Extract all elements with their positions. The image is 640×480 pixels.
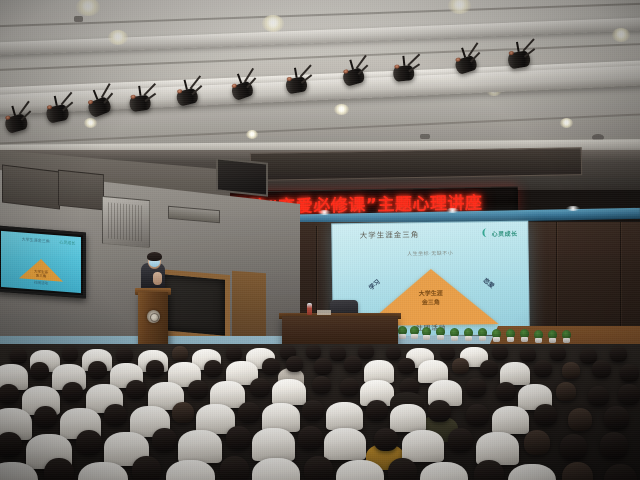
- audience-head: [520, 347, 536, 362]
- slide-center-line1: 大学生涯: [419, 290, 443, 297]
- speaker-hair: [147, 252, 162, 261]
- ceiling-vent: [420, 134, 430, 139]
- band-light: [446, 208, 459, 213]
- monitor-triangle-base-label: 社团活动: [34, 280, 48, 286]
- audience-seat: [272, 379, 306, 405]
- audience-seat: [252, 428, 295, 461]
- audience-head: [262, 358, 280, 375]
- audience-seat: [492, 406, 529, 434]
- stage-spotlight: [392, 61, 414, 78]
- audience-head: [62, 346, 78, 362]
- audience-head: [306, 344, 321, 359]
- potted-plant: [562, 334, 571, 343]
- potted-plant: [398, 330, 407, 339]
- audience-head: [496, 382, 516, 401]
- ceiling-downlight: [262, 15, 284, 32]
- ceiling-speaker: [102, 196, 150, 248]
- audience-head: [34, 406, 57, 428]
- audience-head: [344, 356, 362, 373]
- audience-head: [610, 346, 627, 362]
- audience-seat: [390, 404, 426, 432]
- slide-title: 大学生涯金三角: [360, 229, 420, 241]
- wall-panel-seam: [620, 222, 621, 334]
- audience-head: [560, 434, 587, 460]
- audience-head: [30, 362, 49, 380]
- audience-head: [440, 346, 455, 360]
- potted-plant: [492, 333, 501, 342]
- potted-plant: [478, 332, 487, 341]
- band-light: [318, 210, 331, 215]
- potted-plant: [422, 331, 431, 340]
- band-light: [566, 206, 580, 211]
- monitor-screen: 大学生涯金三角 心灵成长 大学生涯 金三角 社团活动: [1, 231, 81, 293]
- stage-spotlight: [44, 100, 69, 120]
- paper-on-table: [317, 310, 331, 315]
- audience-head: [466, 378, 486, 397]
- audience-seat: [178, 430, 222, 463]
- audience-head: [152, 428, 177, 452]
- slide-triangle-center-label: 大学生涯 金三角: [419, 290, 443, 308]
- audience-head: [524, 430, 550, 455]
- audience-head: [604, 406, 629, 430]
- ceiling-downlight: [84, 118, 97, 128]
- audience-head: [188, 380, 208, 399]
- stage-spotlight: [506, 46, 530, 66]
- audience-head: [132, 456, 161, 480]
- audience-head: [448, 428, 473, 452]
- slide-logo: 心灵成长: [483, 227, 518, 237]
- audience-head: [0, 432, 22, 457]
- audience-head: [286, 356, 303, 372]
- potted-plant: [506, 333, 515, 342]
- audience-head: [568, 408, 592, 431]
- ceiling-downlight: [334, 104, 349, 115]
- slide-center-line2: 金三角: [422, 299, 440, 306]
- audience-head: [592, 360, 611, 378]
- audience-head: [0, 384, 19, 404]
- audience-head: [618, 384, 640, 405]
- water-bottle: [307, 303, 312, 315]
- potted-plant: [464, 332, 473, 341]
- audience-head: [220, 456, 249, 480]
- audience-head: [550, 346, 566, 361]
- audience-head: [388, 458, 417, 480]
- potted-plant: [450, 332, 459, 341]
- audience-head: [312, 376, 331, 394]
- audience-head: [492, 345, 508, 360]
- audience-head: [172, 402, 194, 423]
- ceiling-downlight: [246, 130, 258, 139]
- audience-head: [386, 346, 401, 360]
- audience-seat: [336, 460, 384, 480]
- potted-plant: [548, 334, 557, 343]
- audience-head: [398, 358, 415, 374]
- audience-head: [44, 458, 74, 480]
- wall-mounted-monitor: 大学生涯金三角 心灵成长 大学生涯 金三角 社团活动: [0, 225, 86, 298]
- wall-cabinet: [58, 170, 104, 211]
- slide-subtitle: 人生坐标·无缺不小: [407, 250, 453, 258]
- audience-head: [562, 362, 580, 379]
- audience-head: [474, 460, 504, 480]
- audience-head: [466, 404, 489, 426]
- audience-head: [304, 456, 333, 480]
- wall-cabinet: [2, 164, 60, 209]
- ceiling-downlight: [560, 118, 573, 128]
- control-booth-window: [158, 269, 230, 341]
- stage-door: [232, 271, 266, 343]
- potted-plant: [436, 331, 445, 340]
- audience-head: [302, 400, 324, 421]
- audience-head: [76, 430, 102, 455]
- stage-spotlight: [284, 72, 307, 90]
- audience-head: [358, 344, 374, 359]
- ceiling-downlight: [108, 30, 128, 45]
- audience-head: [534, 404, 557, 426]
- monitor-triangle-label-line2: 金三角: [36, 274, 47, 279]
- audience-head: [604, 464, 637, 480]
- wall-monitor-secondary: [216, 157, 268, 196]
- monitor-slide-logo: 心灵成长: [59, 240, 75, 247]
- audience-head: [314, 358, 332, 375]
- monitor-slide-title: 大学生涯金三角: [22, 237, 50, 245]
- audience-head: [588, 386, 609, 406]
- upper-wall-recess: [250, 147, 582, 181]
- audience-head: [250, 378, 270, 397]
- wall-panel-seam: [556, 222, 557, 338]
- audience-head: [146, 360, 164, 377]
- audience-head: [172, 346, 188, 361]
- audience-head: [10, 348, 27, 364]
- audience-seat: [420, 462, 468, 480]
- audience-head: [238, 402, 260, 423]
- audience-head: [62, 382, 83, 402]
- audience-head: [340, 378, 359, 396]
- podium-emblem: [147, 310, 160, 323]
- audience-head: [126, 380, 146, 399]
- audience-head: [556, 382, 576, 401]
- audience-head: [226, 426, 251, 450]
- audience-head: [116, 347, 133, 363]
- audience-head: [226, 346, 242, 361]
- audience-head: [366, 400, 388, 421]
- audience-head: [480, 360, 498, 377]
- slide-logo-text: 心灵成长: [492, 230, 518, 237]
- audience-head: [330, 346, 346, 361]
- potted-plant: [520, 333, 529, 342]
- audience-seat: [508, 464, 556, 480]
- audience-seat: [166, 460, 215, 480]
- lecture-hall-photo: 学前教育学院“恋爱必修课”主题心理讲座 大学生涯金三角 心灵成长 大学生涯 金三…: [0, 0, 640, 480]
- potted-plant: [534, 334, 543, 343]
- audience-head: [534, 360, 552, 377]
- audience-head: [88, 361, 107, 379]
- audience-seat: [324, 428, 366, 460]
- audience-head: [620, 364, 639, 382]
- audience-head: [452, 358, 469, 374]
- audience-head: [204, 360, 222, 377]
- audience-seat: [326, 402, 363, 430]
- audience-head: [428, 400, 451, 422]
- ceiling-vent: [74, 16, 83, 22]
- audience-head: [374, 428, 398, 451]
- ceiling-downlight: [612, 28, 630, 42]
- stage-spotlight: [128, 91, 151, 109]
- speaker-arm: [153, 272, 162, 285]
- audience-head: [600, 432, 628, 459]
- audience-head: [562, 462, 593, 480]
- monitor-triangle-label: 大学生涯 金三角: [34, 269, 48, 278]
- swoosh-icon: [483, 228, 492, 237]
- audience-head: [298, 426, 323, 450]
- audience-seating: [0, 344, 640, 480]
- audience-seat: [402, 430, 444, 462]
- audience-head: [104, 404, 127, 426]
- potted-plant: [410, 330, 419, 339]
- audience-seat: [252, 458, 300, 480]
